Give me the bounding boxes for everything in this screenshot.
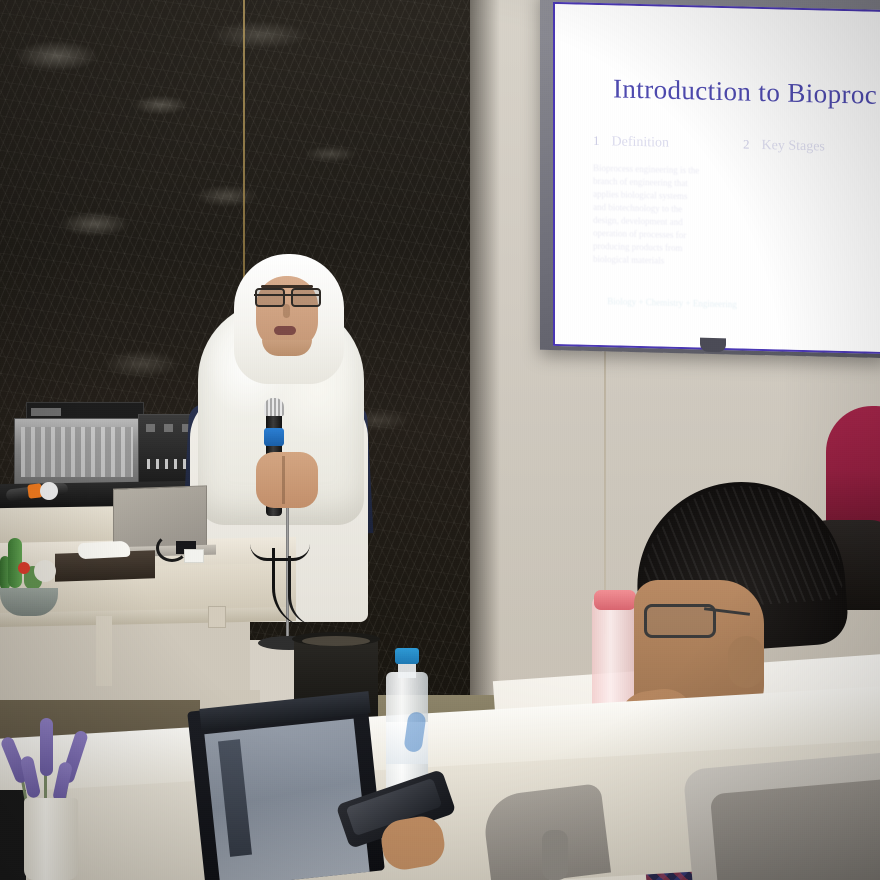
cactus-flower: [18, 562, 30, 574]
slide-column-2-number: 2: [743, 137, 750, 153]
back-counter-leg: [96, 616, 112, 686]
slide-title: Introduction to Bioproc: [613, 73, 877, 110]
slide-column-1-number: 1: [593, 133, 600, 149]
tissue-sheet: [78, 541, 131, 560]
presentation-room-photo: Introduction to Bioproc 1 Definition Bio…: [0, 0, 880, 880]
screen-mount-bracket: [700, 338, 726, 353]
slide-footer: Biology + Chemistry + Engineering: [607, 295, 737, 310]
wall-socket[interactable]: [208, 606, 226, 628]
slide-column-2: 2 Key Stages: [743, 137, 880, 158]
trash-bin-opening: [302, 636, 370, 646]
microphone-grille-icon: [264, 398, 284, 416]
man-ear: [728, 636, 764, 688]
eyeglasses-icon: [254, 288, 320, 303]
presenter-hand-divider: [282, 456, 285, 504]
water-bottle-cap: [395, 648, 419, 664]
slide-column-2-header: 2 Key Stages: [743, 137, 880, 158]
presenter-hands: [256, 452, 318, 508]
pink-tumbler-cap: [594, 590, 636, 610]
wall-shadow-gradient: [470, 0, 500, 700]
white-adapter: [184, 549, 204, 563]
lavender-vase: [24, 798, 78, 880]
presentation-screen[interactable]: Introduction to Bioproc 1 Definition Bio…: [553, 2, 880, 354]
office-chair-cushion: [710, 778, 880, 880]
microphone-blue-band: [264, 428, 284, 446]
microphone-head-icon: [40, 482, 58, 500]
presenter-nose: [283, 304, 290, 318]
slide-column-1-header: 1 Definition: [593, 133, 743, 154]
slide-column-2-heading: Key Stages: [762, 138, 825, 156]
slide-canvas: Introduction to Bioproc 1 Definition Bio…: [555, 4, 880, 352]
decorative-ball: [34, 560, 56, 582]
audio-mixer[interactable]: [14, 418, 140, 486]
slide-column-1-heading: Definition: [612, 134, 670, 151]
office-chair-arm: [542, 830, 568, 880]
slide-column-1: 1 Definition Bioprocess engineering is t…: [593, 133, 743, 270]
presenter-mouth: [274, 326, 296, 335]
slide-column-1-body: Bioprocess engineering is the branch of …: [593, 162, 743, 270]
